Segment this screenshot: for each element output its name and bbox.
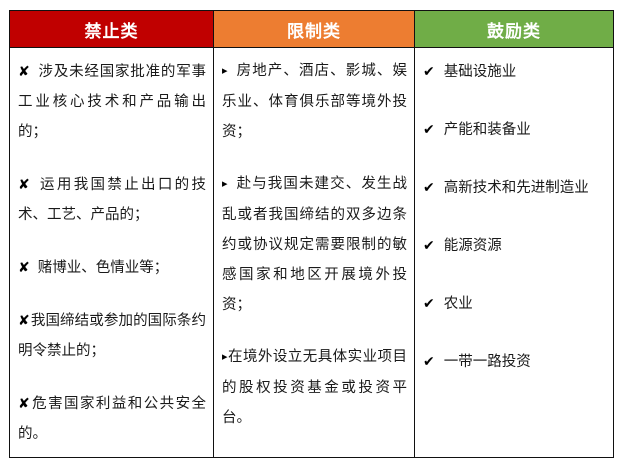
- list-item-text: 运用我国禁止出口的技术、工艺、产品的；: [18, 177, 206, 223]
- table-body-row: ✘涉及未经国家批准的军事工业核心技术和产品输出的；✘运用我国禁止出口的技术、工艺…: [10, 48, 614, 458]
- cell-encouraged: ✔基础设施业✔产能和装备业✔高新技术和先进制造业✔能源资源✔农业✔一带一路投资: [415, 48, 614, 458]
- list-item: ✘赌博业、色情业等；: [18, 252, 206, 283]
- classification-table-wrapper: 禁止类 限制类 鼓励类 ✘涉及未经国家批准的军事工业核心技术和产品输出的；✘运用…: [9, 10, 613, 458]
- list-item: ✔一带一路投资: [423, 346, 606, 377]
- check-mark-icon: ✔: [423, 56, 435, 86]
- list-item: ✘我国缔结或参加的国际条约明令禁止的；: [18, 305, 206, 366]
- cross-mark-icon: ✘: [18, 169, 30, 199]
- list-restricted: ▸房地产、酒店、影城、娱乐业、体育俱乐部等境外投资；▸赴与我国未建交、发生战乱或…: [222, 56, 407, 433]
- cell-restricted: ▸房地产、酒店、影城、娱乐业、体育俱乐部等境外投资；▸赴与我国未建交、发生战乱或…: [214, 48, 415, 458]
- list-item-text: 一带一路投资: [444, 354, 531, 370]
- list-item: ▸房地产、酒店、影城、娱乐业、体育俱乐部等境外投资；: [222, 56, 407, 147]
- list-item-text: 我国缔结或参加的国际条约明令禁止的；: [18, 313, 206, 359]
- list-item: ✔农业: [423, 288, 606, 319]
- table-body: ✘涉及未经国家批准的军事工业核心技术和产品输出的；✘运用我国禁止出口的技术、工艺…: [10, 48, 614, 458]
- list-item-text: 基础设施业: [444, 64, 517, 80]
- list-item: ✔基础设施业: [423, 56, 606, 87]
- list-item-text: 赌博业、色情业等；: [38, 260, 169, 276]
- outbound-investment-classification-table: 禁止类 限制类 鼓励类 ✘涉及未经国家批准的军事工业核心技术和产品输出的；✘运用…: [9, 10, 614, 458]
- triangle-bullet-icon: ▸: [222, 342, 228, 372]
- list-item-text: 农业: [444, 296, 473, 312]
- list-item: ✔产能和装备业: [423, 114, 606, 145]
- list-item-text: 在境外设立无具体实业项目的股权投资基金或投资平台。: [222, 349, 407, 426]
- list-item: ▸赴与我国未建交、发生战乱或者我国缔结的双多边条约或协议规定需要限制的敏感国家和…: [222, 169, 407, 320]
- check-mark-icon: ✔: [423, 288, 435, 318]
- column-header-prohibited: 禁止类: [10, 11, 214, 48]
- table-header: 禁止类 限制类 鼓励类: [10, 11, 614, 48]
- list-encouraged: ✔基础设施业✔产能和装备业✔高新技术和先进制造业✔能源资源✔农业✔一带一路投资: [423, 56, 606, 377]
- list-item: ✘涉及未经国家批准的军事工业核心技术和产品输出的；: [18, 56, 206, 147]
- check-mark-icon: ✔: [423, 114, 435, 144]
- cross-mark-icon: ✘: [18, 305, 30, 335]
- check-mark-icon: ✔: [423, 346, 435, 376]
- screenshot-root: 禁止类 限制类 鼓励类 ✘涉及未经国家批准的军事工业核心技术和产品输出的；✘运用…: [0, 0, 622, 440]
- check-mark-icon: ✔: [423, 230, 435, 260]
- list-item-text: 高新技术和先进制造业: [444, 180, 589, 196]
- column-header-encouraged-label: 鼓励类: [487, 22, 541, 41]
- cross-mark-icon: ✘: [18, 56, 30, 86]
- list-item-text: 能源资源: [444, 238, 502, 254]
- list-prohibited: ✘涉及未经国家批准的军事工业核心技术和产品输出的；✘运用我国禁止出口的技术、工艺…: [18, 56, 206, 449]
- list-item: ✘运用我国禁止出口的技术、工艺、产品的；: [18, 169, 206, 230]
- table-header-row: 禁止类 限制类 鼓励类: [10, 11, 614, 48]
- cross-mark-icon: ✘: [18, 388, 30, 418]
- list-item: ▸在境外设立无具体实业项目的股权投资基金或投资平台。: [222, 342, 407, 433]
- triangle-bullet-icon: ▸: [222, 169, 228, 199]
- column-header-encouraged: 鼓励类: [415, 11, 614, 48]
- check-mark-icon: ✔: [423, 172, 435, 202]
- list-item: ✔能源资源: [423, 230, 606, 261]
- list-item-text: 涉及未经国家批准的军事工业核心技术和产品输出的；: [18, 64, 206, 140]
- list-item-text: 房地产、酒店、影城、娱乐业、体育俱乐部等境外投资；: [222, 63, 407, 140]
- list-item: ✔高新技术和先进制造业: [423, 172, 606, 203]
- column-header-restricted: 限制类: [214, 11, 415, 48]
- list-item-text: 危害国家利益和公共安全的。: [18, 396, 206, 442]
- column-header-prohibited-label: 禁止类: [85, 22, 139, 41]
- cell-prohibited: ✘涉及未经国家批准的军事工业核心技术和产品输出的；✘运用我国禁止出口的技术、工艺…: [10, 48, 214, 458]
- triangle-bullet-icon: ▸: [222, 56, 228, 86]
- cross-mark-icon: ✘: [18, 252, 30, 282]
- list-item-text: 产能和装备业: [444, 122, 531, 138]
- list-item-text: 赴与我国未建交、发生战乱或者我国缔结的双多边条约或协议规定需要限制的敏感国家和地…: [222, 176, 407, 313]
- column-header-restricted-label: 限制类: [287, 22, 341, 41]
